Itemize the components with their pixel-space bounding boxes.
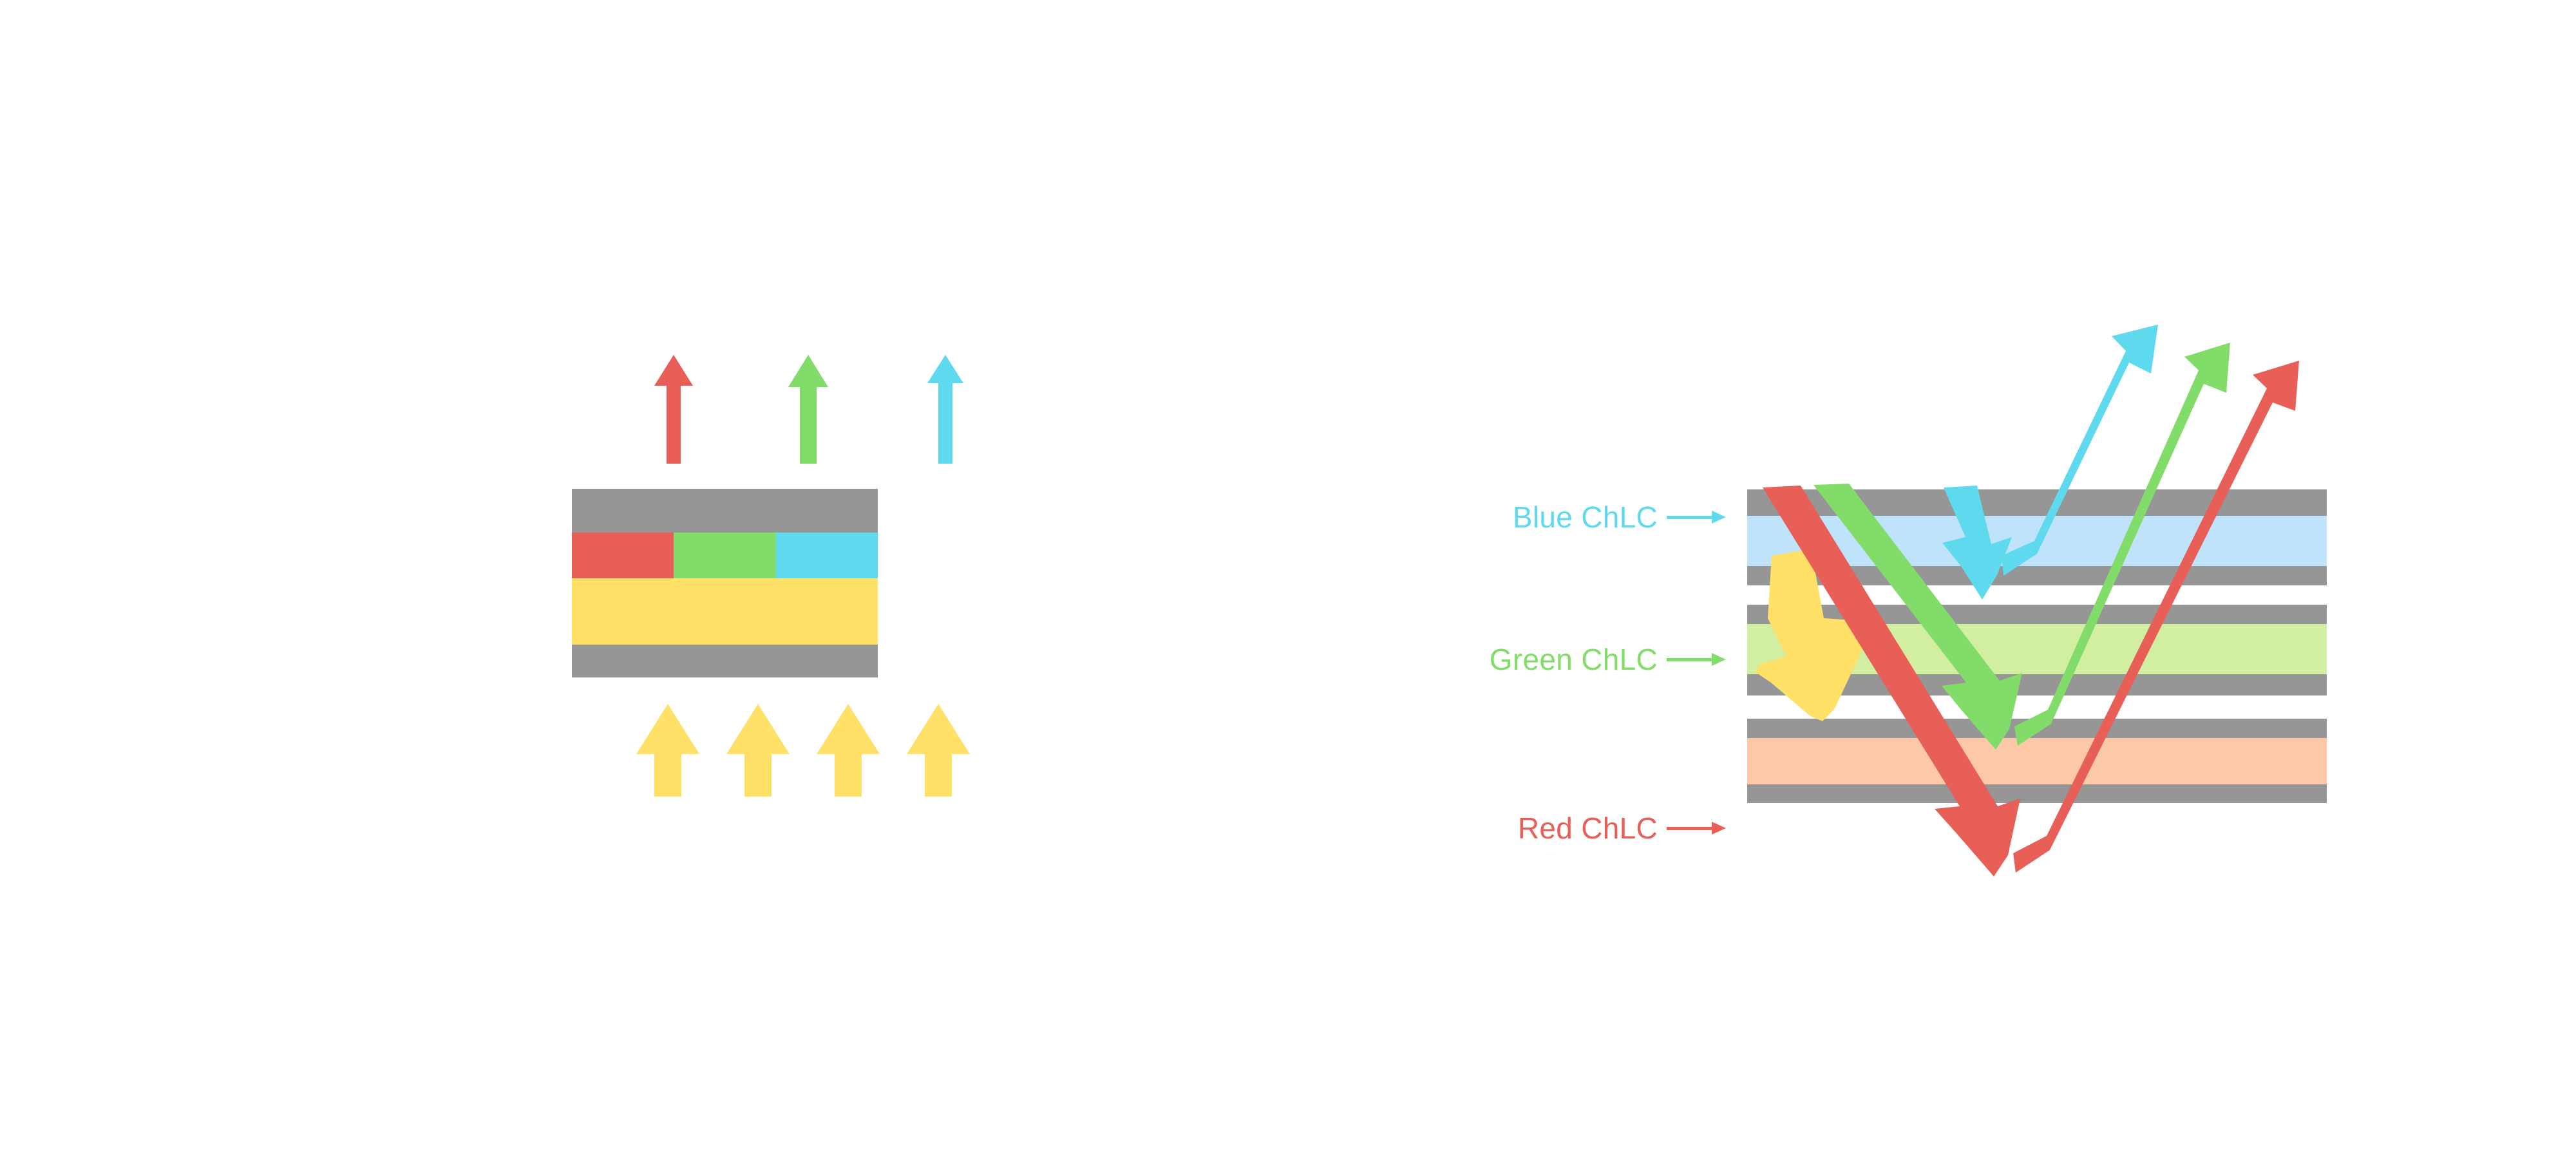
segment-blue-filter: [776, 533, 878, 578]
ray-arrow-overlay: [1378, 270, 2383, 837]
backlight-arrow-3: [817, 702, 880, 797]
green-output-arrow: [788, 353, 828, 464]
layer-backlight: [572, 578, 878, 645]
backlight-arrow-4: [907, 702, 970, 797]
left-display-stack: [572, 489, 878, 677]
transmissive-stack-panel: [572, 335, 1126, 811]
diagram-canvas: Blue ChLC Green ChLC Red ChLC: [0, 0, 2576, 1154]
backlight-arrow-1: [636, 702, 699, 797]
backlight-arrow-2: [726, 702, 790, 797]
red-output-arrow: [654, 353, 693, 464]
blue-output-arrow: [927, 353, 963, 464]
segment-red-filter: [572, 533, 674, 578]
reflective-chlc-stack-panel: Blue ChLC Green ChLC Red ChLC: [1378, 270, 2383, 837]
layer-color-filter: [572, 533, 878, 578]
layer-bottom-electrode: [572, 645, 878, 677]
layer-top-electrode: [572, 489, 878, 533]
segment-green-filter: [674, 533, 775, 578]
blue-reflected-ray: [2002, 325, 2158, 576]
red-reflected-ray: [2013, 361, 2299, 873]
blue-incident-ray: [1942, 486, 2012, 600]
